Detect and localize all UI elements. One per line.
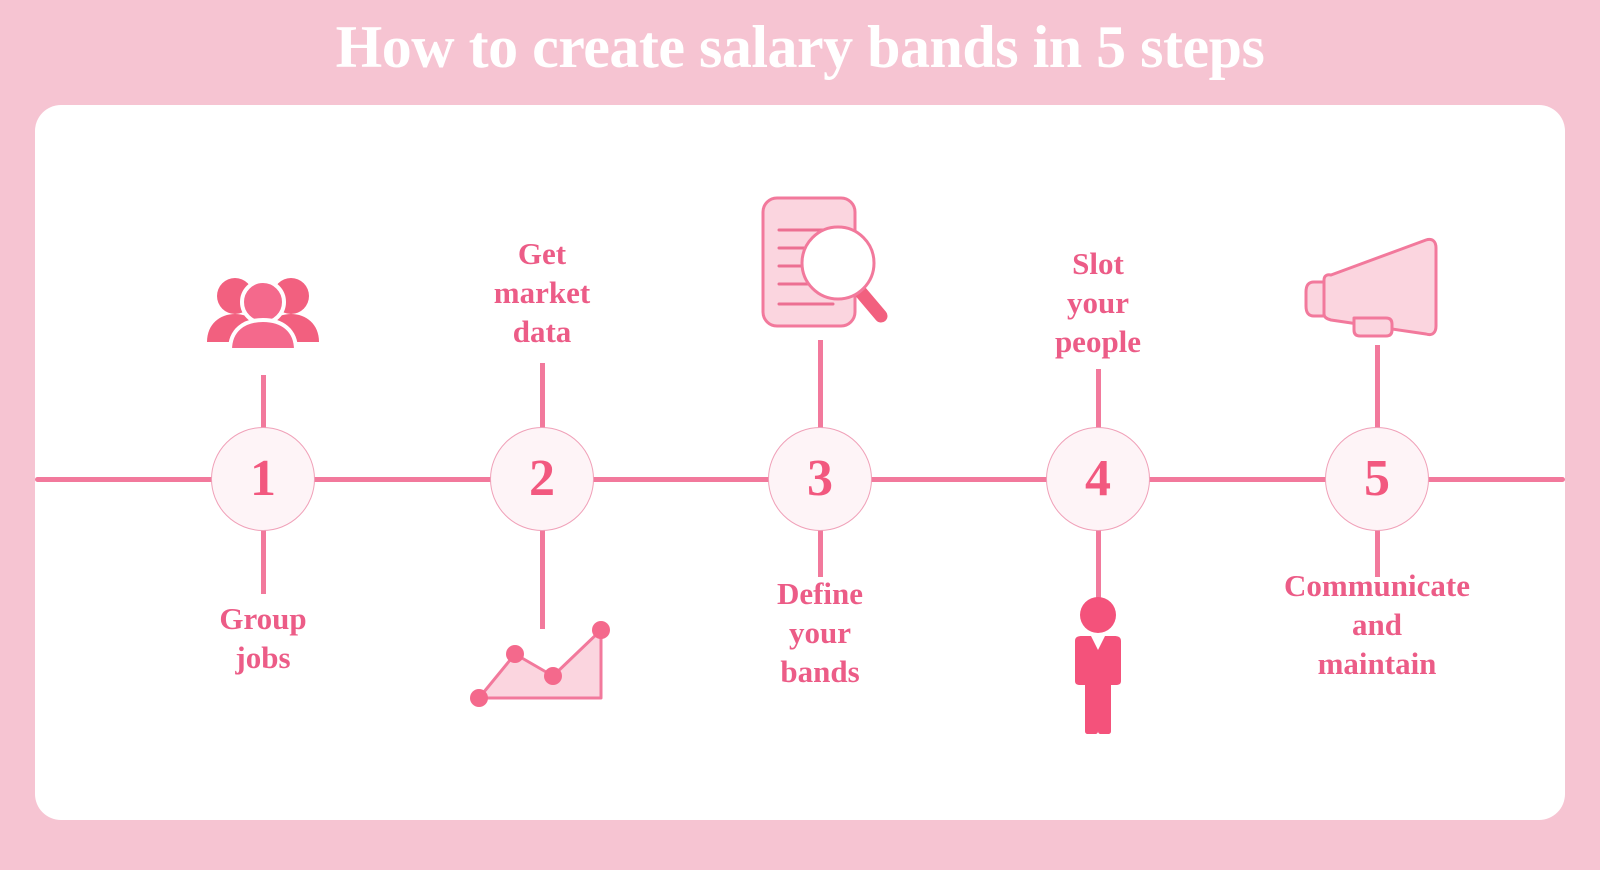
page-title: How to create salary bands in 5 steps xyxy=(0,14,1600,80)
step-number-1: 1 xyxy=(250,453,276,505)
step-label-3-line-3: bands xyxy=(670,653,970,692)
timeline-step-3[interactable]: 3 Define your bands xyxy=(670,105,970,820)
step-number-5: 5 xyxy=(1364,453,1390,505)
step-label-2-line-3: data xyxy=(392,313,692,352)
step-label-1: Group jobs xyxy=(113,600,413,678)
step-connector-down-1 xyxy=(261,529,266,594)
step-label-3-line-1: Define xyxy=(670,575,970,614)
step-label-3-line-2: your xyxy=(670,614,970,653)
timeline-step-1[interactable]: 1 Group jobs xyxy=(113,105,413,820)
step-label-4-line-1: Slot xyxy=(948,245,1248,284)
step-label-5-line-1: Communicate xyxy=(1227,567,1527,606)
step-label-4-line-2: your xyxy=(948,284,1248,323)
timeline-step-5[interactable]: 5 Communicate and maintain xyxy=(1227,105,1527,820)
timeline-step-4[interactable]: Slot your people 4 xyxy=(948,105,1248,820)
step-number-3: 3 xyxy=(807,453,833,505)
step-label-5-line-3: maintain xyxy=(1227,645,1527,684)
step-connector-down-3 xyxy=(818,529,823,577)
step-circle-5[interactable]: 5 xyxy=(1325,427,1429,531)
step-circle-3[interactable]: 3 xyxy=(768,427,872,531)
document-search-icon xyxy=(670,190,970,340)
step-label-5-line-2: and xyxy=(1227,606,1527,645)
step-connector-down-4 xyxy=(1096,529,1101,601)
step-label-2-line-1: Get xyxy=(392,235,692,274)
step-label-1-line-1: Group xyxy=(113,600,413,639)
step-circle-1[interactable]: 1 xyxy=(211,427,315,531)
step-label-4-line-3: people xyxy=(948,323,1248,362)
step-number-2: 2 xyxy=(529,453,555,505)
step-circle-2[interactable]: 2 xyxy=(490,427,594,531)
step-label-1-line-2: jobs xyxy=(113,639,413,678)
megaphone-icon xyxy=(1227,230,1527,340)
line-chart-icon xyxy=(392,610,692,710)
step-label-5: Communicate and maintain xyxy=(1227,567,1527,683)
timeline-step-2[interactable]: Get market data 2 xyxy=(392,105,692,820)
infographic-card: 1 Group jobs Get market data 2 xyxy=(35,105,1565,820)
step-number-4: 4 xyxy=(1085,453,1111,505)
step-label-3: Define your bands xyxy=(670,575,970,691)
person-standing-icon xyxy=(948,595,1248,735)
step-label-2: Get market data xyxy=(392,235,692,351)
step-circle-4[interactable]: 4 xyxy=(1046,427,1150,531)
step-label-2-line-2: market xyxy=(392,274,692,313)
group-people-icon xyxy=(113,270,413,350)
step-label-4: Slot your people xyxy=(948,245,1248,361)
